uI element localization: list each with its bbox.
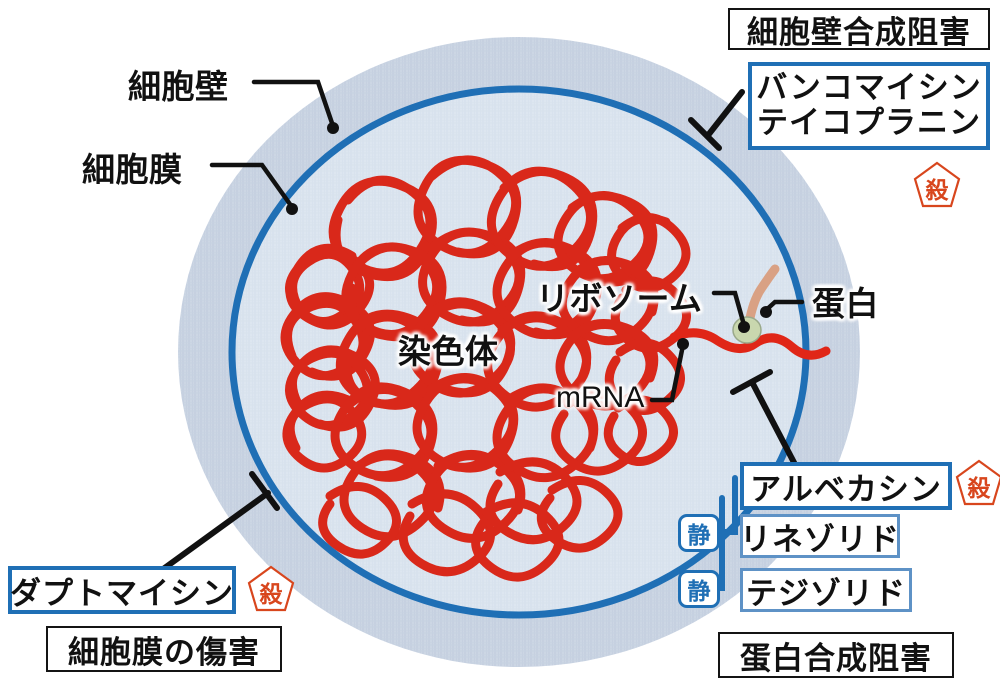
bactericidal-stamp-glycopeptides: 殺 <box>912 160 962 210</box>
dot-protein <box>760 306 772 318</box>
drug-box-glycopeptides[interactable]: バンコマイシン テイコプラニン <box>748 62 990 150</box>
bacteriostatic-badge-linezolid: 静 <box>678 514 720 552</box>
header-protein-synthesis-inhibition: 蛋白合成阻害 <box>718 632 954 678</box>
dot-cell-wall <box>327 122 339 134</box>
drug-label-vancomycin: バンコマイシン <box>752 71 986 106</box>
bacteriostatic-badge-tedizolid: 静 <box>678 570 720 608</box>
bactericidal-stamp-text: 殺 <box>954 458 1000 508</box>
dot-cell-membrane <box>286 203 298 215</box>
diagram-canvas: 細胞壁 細胞膜 染色体 リボソーム mRNA 蛋白 細胞壁合成阻害 バンコマイシ… <box>0 0 1000 684</box>
bactericidal-stamp-text: 殺 <box>246 564 296 614</box>
header-membrane-damage: 細胞膜の傷害 <box>46 626 282 672</box>
label-cell-wall: 細胞壁 <box>128 60 229 108</box>
dot-ribosome <box>738 321 750 333</box>
bactericidal-stamp-text: 殺 <box>912 160 962 210</box>
label-ribosome: リボソーム <box>536 272 703 320</box>
dot-mrna <box>677 338 689 350</box>
drug-box-arbekacin[interactable]: アルベカシン <box>740 462 952 510</box>
bactericidal-stamp-arbekacin: 殺 <box>954 458 1000 508</box>
bactericidal-stamp-daptomycin: 殺 <box>246 564 296 614</box>
drug-box-daptomycin[interactable]: ダプトマイシン <box>8 566 236 614</box>
drug-box-linezolid[interactable]: リネゾリド <box>740 514 900 558</box>
drug-label-teicoplanin: テイコプラニン <box>752 106 986 141</box>
label-chromosome: 染色体 <box>398 325 499 373</box>
drug-box-tedizolid[interactable]: テジゾリド <box>740 568 912 612</box>
header-cell-wall-synthesis-inhibition: 細胞壁合成阻害 <box>728 8 990 50</box>
label-cell-membrane: 細胞膜 <box>82 143 183 191</box>
label-protein: 蛋白 <box>812 277 879 325</box>
label-mrna: mRNA <box>556 381 644 415</box>
